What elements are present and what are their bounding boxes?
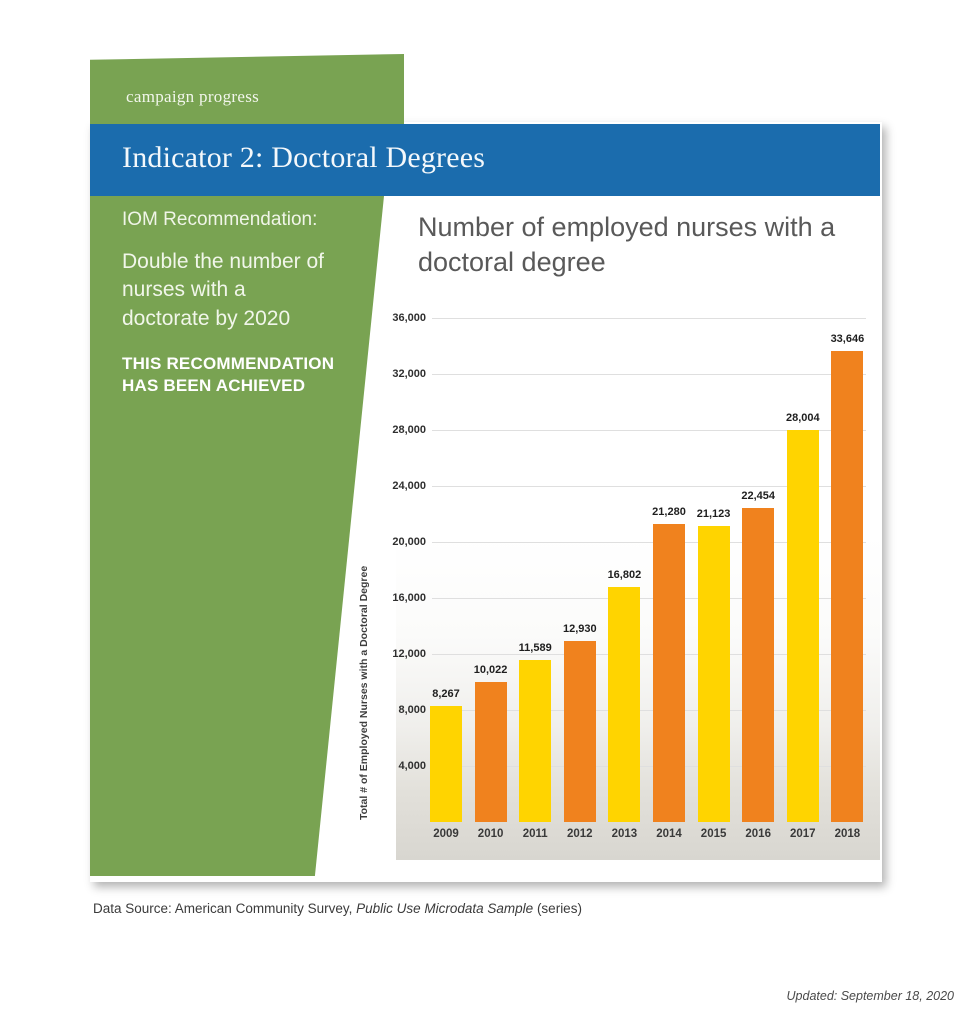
bar	[742, 508, 774, 822]
y-axis-label: Total # of Employed Nurses with a Doctor…	[358, 520, 370, 820]
bar	[608, 587, 640, 822]
x-axis: 2009201020112012201320142015201620172018	[424, 828, 870, 850]
bar	[787, 430, 819, 822]
y-axis-tick-label: 24,000	[378, 480, 426, 492]
bar-value-label: 28,004	[773, 412, 833, 424]
y-axis-tick-label: 36,000	[378, 312, 426, 324]
data-source-note: Data Source: American Community Survey, …	[93, 901, 582, 916]
bar-slot: 21,123	[692, 318, 736, 822]
recommendation-body: Double the number of nurses with a docto…	[122, 248, 337, 334]
chart-title: Number of employed nurses with a doctora…	[418, 210, 848, 280]
bar	[430, 706, 462, 822]
data-source-prefix: Data Source: American Community Survey,	[93, 901, 356, 916]
bar	[653, 524, 685, 822]
bar-value-label: 21,123	[684, 508, 744, 520]
recommendation-heading: IOM Recommendation:	[122, 208, 366, 232]
bar-slot: 10,022	[469, 318, 513, 822]
bar-slot: 21,280	[647, 318, 691, 822]
bar-slot: 16,802	[602, 318, 646, 822]
updated-timestamp: Updated: September 18, 2020	[787, 989, 954, 1003]
bar-slot: 33,646	[825, 318, 869, 822]
y-axis-tick-label: 20,000	[378, 536, 426, 548]
bar-value-label: 33,646	[817, 333, 877, 345]
y-axis-tick-label: 28,000	[378, 424, 426, 436]
x-axis-tick-label: 2018	[819, 828, 875, 840]
bar-value-label: 12,930	[550, 623, 610, 635]
bar-slot: 11,589	[513, 318, 557, 822]
data-source-italic: Public Use Microdata Sample	[356, 901, 533, 916]
y-axis-tick-label: 32,000	[378, 368, 426, 380]
bar-slot: 28,004	[781, 318, 825, 822]
recommendation-panel-text: IOM Recommendation: Double the number of…	[122, 208, 366, 398]
bar-value-label: 10,022	[461, 664, 521, 676]
data-source-suffix: (series)	[533, 901, 582, 916]
bar-value-label: 16,802	[594, 569, 654, 581]
bar	[519, 660, 551, 822]
bar-series: 8,26710,02211,58912,93016,80221,28021,12…	[424, 318, 870, 822]
bar-slot: 8,267	[424, 318, 468, 822]
bar	[564, 641, 596, 822]
bar-value-label: 8,267	[416, 688, 476, 700]
y-axis-tick-label: 12,000	[378, 648, 426, 660]
bar	[475, 682, 507, 822]
y-axis-tick-label: 16,000	[378, 592, 426, 604]
y-axis-tick-label: 8,000	[378, 704, 426, 716]
bar	[698, 526, 730, 822]
bar	[831, 351, 863, 822]
campaign-progress-label: campaign progress	[126, 87, 259, 107]
page-title: Indicator 2: Doctoral Degrees	[122, 141, 485, 175]
bar-slot: 22,454	[736, 318, 780, 822]
infographic-card: campaign progress Indicator 2: Doctoral …	[0, 0, 974, 1024]
bar-value-label: 11,589	[505, 642, 565, 654]
y-axis-tick-label: 4,000	[378, 760, 426, 772]
bar-value-label: 22,454	[728, 490, 788, 502]
achieved-badge: THIS RECOMMENDATION HAS BEEN ACHIEVED	[122, 353, 362, 397]
